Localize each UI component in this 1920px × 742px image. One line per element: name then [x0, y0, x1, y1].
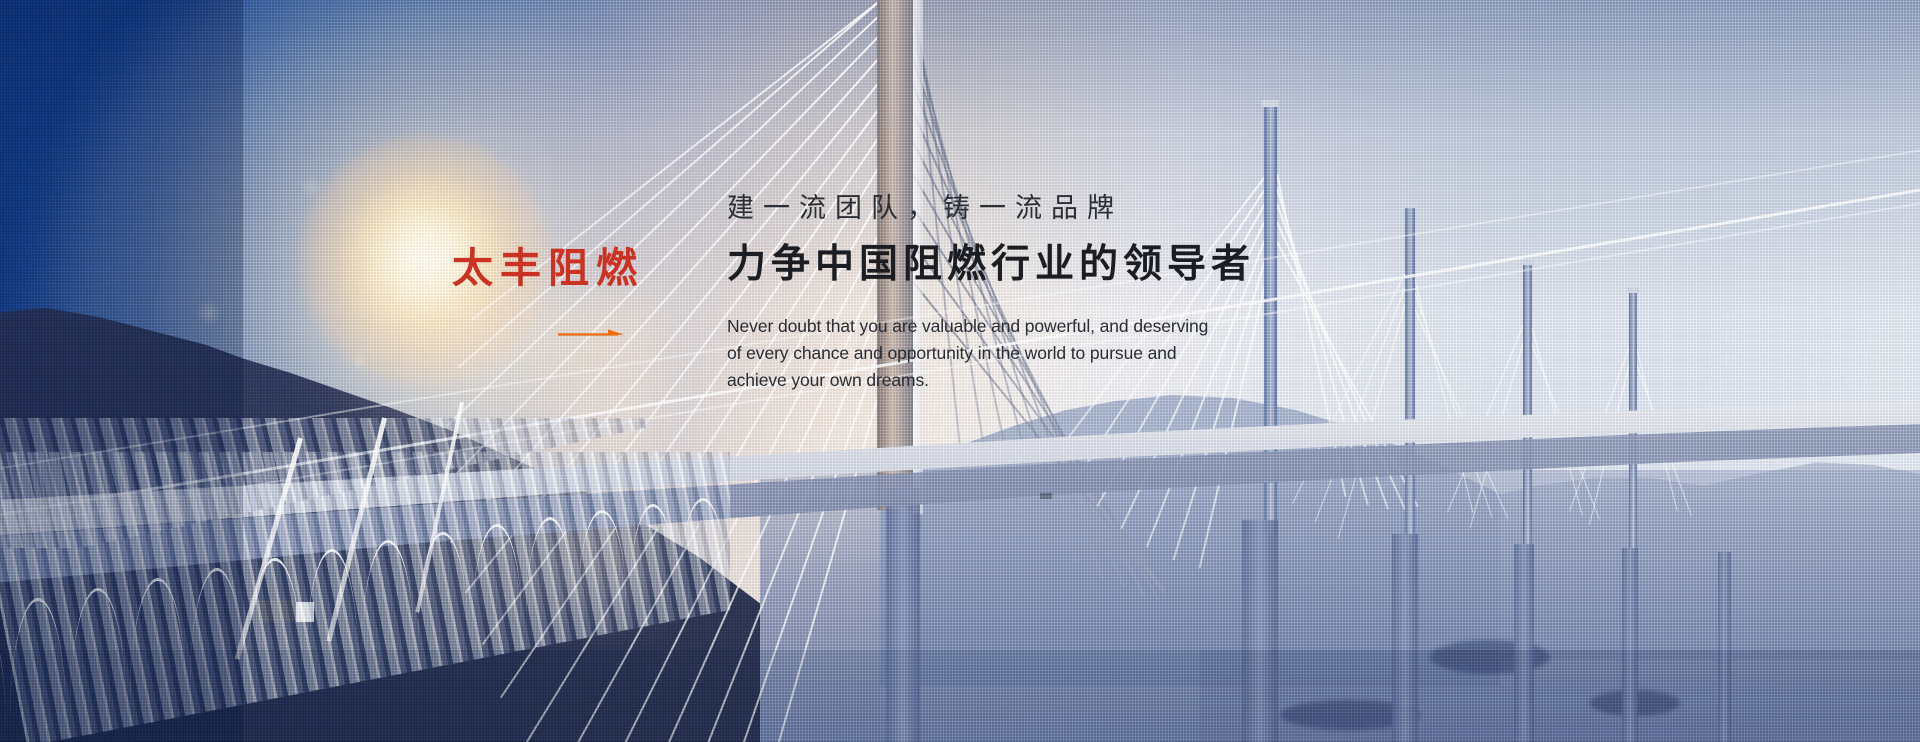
hero-paragraph: Never doubt that you are valuable and po… — [727, 313, 1197, 394]
hero-paragraph-line: of every chance and opportunity in the w… — [727, 340, 1197, 367]
hero-paragraph-line: Never doubt that you are valuable and po… — [727, 313, 1197, 340]
arrow-right-icon — [558, 328, 626, 340]
brand-logo[interactable]: 太丰阻燃 — [452, 248, 702, 289]
bridge-pylon-4 — [1523, 262, 1532, 550]
overlay-shade-left — [0, 0, 243, 742]
bridge-pylon-2-cap — [1262, 100, 1279, 107]
vehicle-small — [1040, 493, 1052, 499]
hero-banner: 太丰阻燃 建一流团队，铸一流品牌 力争中国阻燃行业的领导者 Never doub… — [0, 0, 1920, 742]
brand-logo-text: 太丰阻燃 — [452, 248, 702, 289]
overlay-shade-bottom-right — [1200, 650, 1920, 742]
hero-paragraph-line: achieve your own dreams. — [727, 367, 1197, 394]
hero-headline: 力争中国阻燃行业的领导者 — [727, 243, 1427, 287]
hero-subtitle: 建一流团队，铸一流品牌 — [727, 193, 1427, 224]
hero-copy: 建一流团队，铸一流品牌 力争中国阻燃行业的领导者 Never doubt tha… — [727, 193, 1427, 394]
bridge-pylon-4-cap — [1521, 260, 1534, 265]
bridge-pylon-5-cap — [1627, 288, 1639, 293]
